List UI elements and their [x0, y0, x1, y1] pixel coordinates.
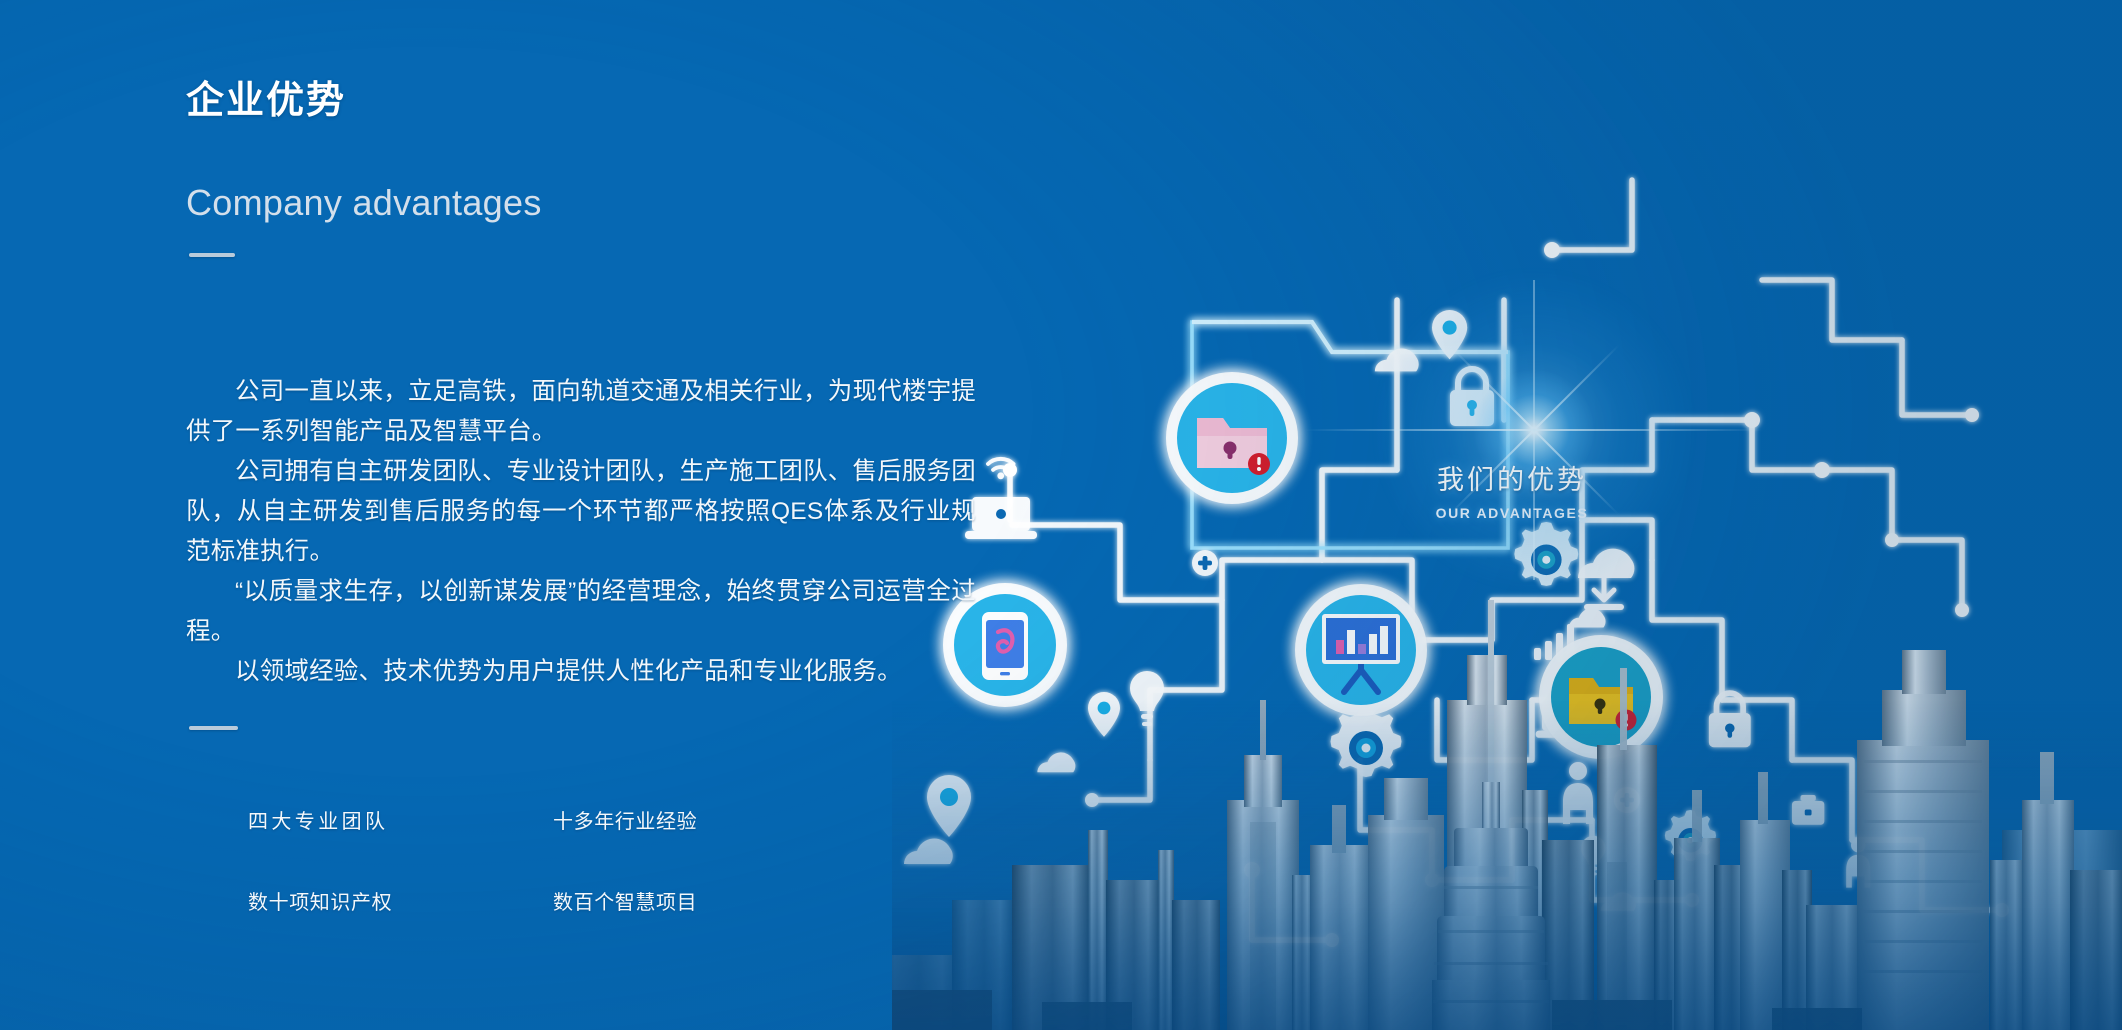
map-pin-icon	[1088, 692, 1120, 737]
stat-item-projects: 数百个智慧项目	[553, 886, 888, 967]
badge-folder-lock-alert-icon	[1539, 635, 1663, 759]
badge-presentation-chart-icon	[1295, 584, 1427, 716]
stat-item-teams: 四大专业团队	[248, 805, 553, 886]
stats-divider	[189, 726, 238, 730]
page-root: 我们的优势 OUR ADVANTAGES 企业优势 Company advant…	[0, 0, 2122, 1030]
briefcase-icon	[1792, 795, 1824, 825]
stat-item-experience: 十多年行业经验	[553, 805, 888, 886]
body-paragraph: “以质量求生存，以创新谋发展”的经营理念，始终贯穿公司运营全过程。	[186, 572, 976, 652]
badge-folder-lock-icon	[1166, 372, 1298, 504]
content-column: 企业优势 Company advantages 公司一直以来，立足高铁，面向轨道…	[186, 0, 1016, 1030]
gear-icon	[1331, 706, 1402, 777]
cloud-upload-icon	[1578, 549, 1634, 610]
title-divider	[189, 253, 235, 257]
stat-item-patents: 数十项知识产权	[248, 886, 553, 967]
body-paragraph: 公司一直以来，立足高铁，面向轨道交通及相关行业，为现代楼宇提供了一系列智能产品及…	[186, 372, 976, 452]
smart-city-graphic	[892, 0, 2122, 1030]
graphic-svg	[892, 0, 2122, 1030]
gear-icon	[1514, 522, 1578, 586]
person-icon	[1563, 762, 1593, 824]
body-paragraph: 公司拥有自主研发团队、专业设计团队，生产施工团队、售后服务团队，从自主研发到售后…	[186, 452, 976, 572]
cloud-icon	[1569, 608, 1606, 627]
lightbulb-icon	[1130, 671, 1164, 726]
stats-grid: 四大专业团队 十多年行业经验 数十项知识产权 数百个智慧项目	[248, 805, 888, 967]
cloud-icon	[1037, 752, 1075, 772]
padlock-icon	[1450, 369, 1494, 426]
page-subtitle: Company advantages	[186, 181, 542, 224]
page-title: 企业优势	[186, 79, 346, 125]
body-paragraph: 以领域经验、技术优势为用户提供人性化产品和专业化服务。	[186, 652, 976, 692]
plus-node-icon	[1192, 550, 1218, 576]
city-skyline	[892, 545, 2122, 1030]
body-copy: 公司一直以来，立足高铁，面向轨道交通及相关行业，为现代楼宇提供了一系列智能产品及…	[186, 372, 976, 692]
